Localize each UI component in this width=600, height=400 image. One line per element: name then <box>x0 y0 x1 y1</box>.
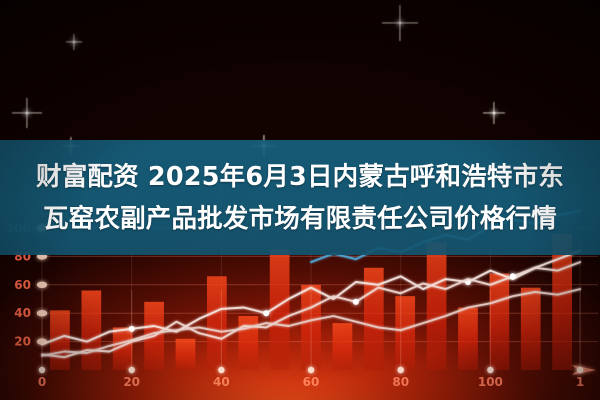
bar <box>238 316 258 370</box>
bar <box>489 273 509 370</box>
data-point-marker <box>263 310 269 316</box>
bar <box>333 323 353 370</box>
x-tick-label: 60 <box>303 375 320 389</box>
data-point-marker <box>510 273 516 279</box>
x-tick-label: 80 <box>392 375 409 389</box>
y-tick-dot <box>37 310 47 316</box>
y-tick-label: 20 <box>14 335 31 349</box>
bar <box>81 290 101 370</box>
bar <box>458 308 478 370</box>
headline-banner: 财富配资 2025年6月3日内蒙古呼和浩特市东 瓦窑农副产品批发市场有限责任公司… <box>0 140 600 255</box>
bar <box>521 288 541 370</box>
headline-line-1: 财富配资 2025年6月3日内蒙古呼和浩特市东 <box>36 157 564 197</box>
headline-line-2: 瓦窑农副产品批发市场有限责任公司价格行情 <box>43 199 557 239</box>
x-tick-label: 20 <box>123 375 140 389</box>
bar <box>207 276 227 370</box>
x-tick-label: 0 <box>38 375 46 389</box>
data-point-marker <box>353 299 359 305</box>
bar <box>427 242 447 370</box>
x-tick-label: 40 <box>213 375 230 389</box>
poster-image: 020406080100120406080100 财富配资 2025年6月3日内… <box>0 0 600 400</box>
x-tick-label: 1 <box>576 375 584 389</box>
bar <box>395 296 415 370</box>
y-tick-label: 40 <box>14 306 31 320</box>
y-tick-label: 60 <box>14 278 31 292</box>
bar <box>176 339 196 370</box>
y-tick-dot <box>37 282 47 288</box>
x-tick-label: 100 <box>478 375 503 389</box>
y-tick-dot <box>37 338 47 344</box>
